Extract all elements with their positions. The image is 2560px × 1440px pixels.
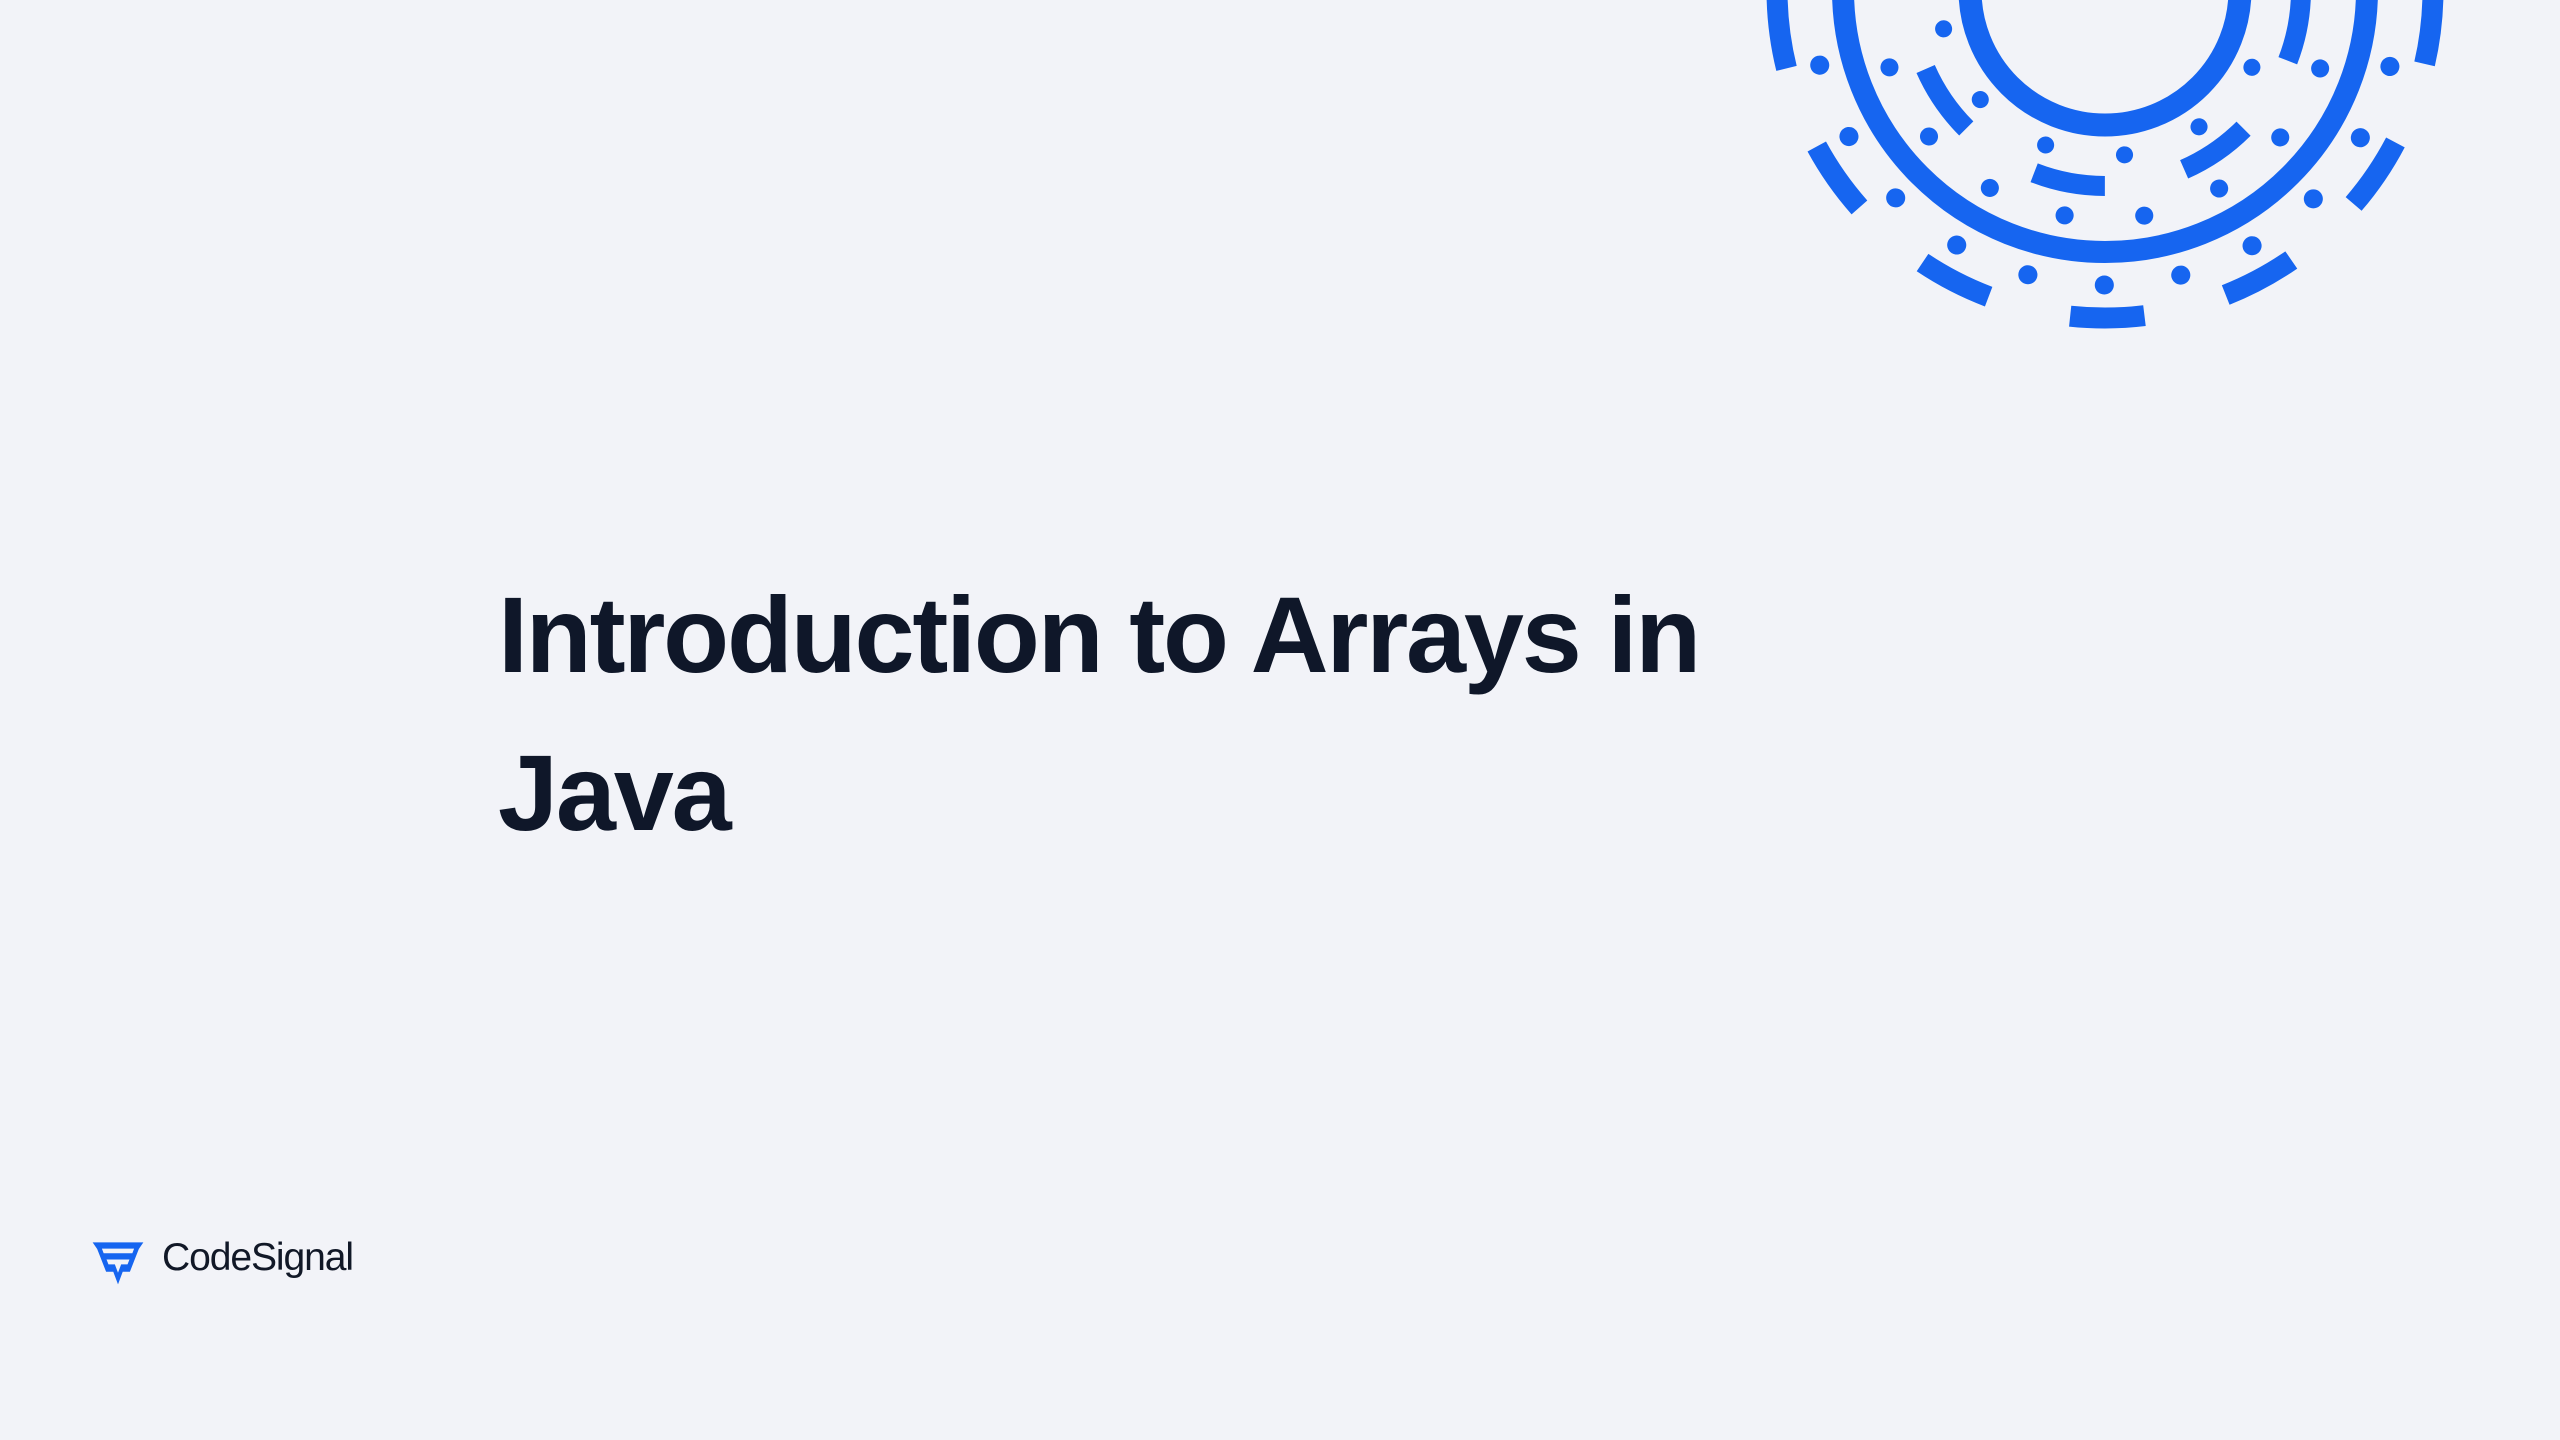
codesignal-wordmark: CodeSignal xyxy=(162,1234,420,1284)
codesignal-logo: CodeSignal xyxy=(90,1231,420,1287)
codesignal-falcon-icon xyxy=(90,1231,146,1287)
page-title-line-2: Java xyxy=(498,714,1898,872)
slide-canvas: Introduction to Arrays in Java CodeSigna… xyxy=(0,0,2560,1440)
page-title-line-1: Introduction to Arrays in xyxy=(498,556,1898,714)
concentric-rings-icon xyxy=(1760,0,2450,335)
svg-text:CodeSignal: CodeSignal xyxy=(162,1236,353,1279)
page-title: Introduction to Arrays in Java xyxy=(498,556,1898,872)
